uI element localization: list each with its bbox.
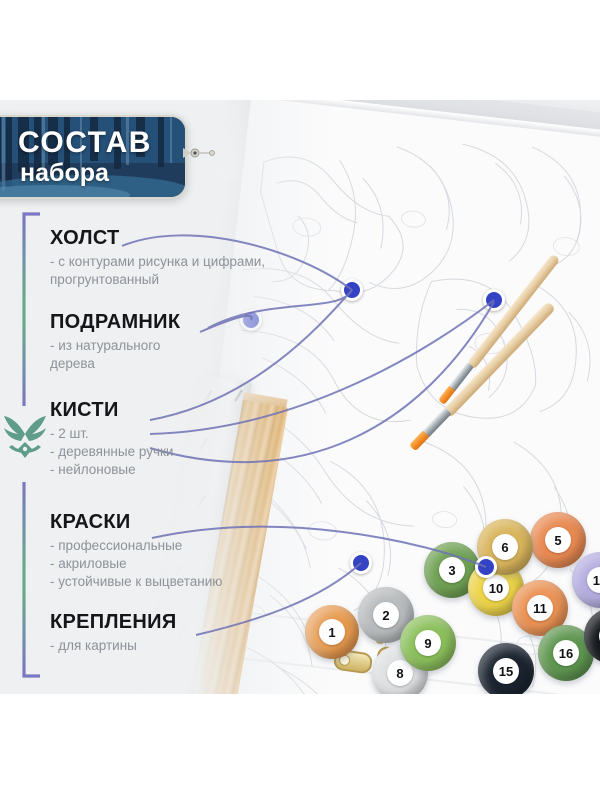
spec-items: - 2 шт. - деревянные ручки - нейлоновые xyxy=(50,425,173,480)
paint-pot-number: 1 xyxy=(319,619,345,645)
spec-item: - деревянные ручки xyxy=(50,443,173,461)
section-banner: СОСТАВ набора xyxy=(0,115,187,199)
spec-block-brushes: КИСТИ - 2 шт. - деревянные ручки - нейло… xyxy=(50,400,173,480)
spec-block-mounts: КРЕПЛЕНИЯ - для картины xyxy=(50,612,177,655)
paint-pot-number: 3 xyxy=(439,557,465,583)
spec-item: - для картины xyxy=(50,637,177,655)
paint-pot: 5 xyxy=(530,512,586,568)
spec-block-canvas: ХОЛСТ - с контурами рисунка и цифрами, п… xyxy=(50,228,265,289)
spec-item: - из натурального xyxy=(50,337,180,355)
spec-heading: КИСТИ xyxy=(50,400,173,421)
marker-brushes xyxy=(483,289,505,311)
paint-pot-number: 11 xyxy=(527,595,553,621)
brand-crest-icon xyxy=(2,412,48,464)
marker-paints xyxy=(475,556,497,578)
paint-pot: 9 xyxy=(400,615,456,671)
banner-title: СОСТАВ xyxy=(18,128,152,158)
spec-item: - нейлоновые xyxy=(50,461,173,479)
paint-pot-number: 10 xyxy=(483,575,509,601)
paint-pot-number: 15 xyxy=(493,658,519,684)
spec-block-paints: КРАСКИ - профессиональные - акриловые - … xyxy=(50,512,222,592)
banner-finial-icon xyxy=(183,145,217,161)
spec-heading: ХОЛСТ xyxy=(50,228,265,249)
paint-pot-number: 5 xyxy=(545,527,571,553)
spec-items: - профессиональные - акриловые - устойчи… xyxy=(50,537,222,592)
spec-item: - 2 шт. xyxy=(50,425,173,443)
paint-pot-number: 12 xyxy=(587,567,600,593)
paint-pot: 1 xyxy=(305,605,359,659)
paint-pot-number: 2 xyxy=(373,602,399,628)
spec-heading: КРАСКИ xyxy=(50,512,222,533)
spec-item: - устойчивые к выцветанию xyxy=(50,573,222,591)
spec-item: дерева xyxy=(50,355,180,373)
spec-block-frame: ПОДРАМНИК - из натурального дерева xyxy=(50,312,180,373)
spec-item: - с контурами рисунка и цифрами, xyxy=(50,253,265,271)
spec-item: - акриловые xyxy=(50,555,222,573)
paint-pot: 15 xyxy=(478,643,534,694)
banner-subtitle: набора xyxy=(20,161,109,186)
marker-mounts xyxy=(350,552,372,574)
spec-items: - из натурального дерева xyxy=(50,337,180,373)
spec-items: - с контурами рисунка и цифрами, прогрун… xyxy=(50,253,265,289)
marker-canvas xyxy=(341,279,363,301)
spec-items: - для картины xyxy=(50,637,177,655)
paint-pot-number: 6 xyxy=(492,534,518,560)
product-infographic-page: 1235891011121516176 xyxy=(0,0,600,800)
spec-heading: ПОДРАМНИК xyxy=(50,312,180,333)
paint-pot-number: 16 xyxy=(553,640,579,666)
spec-item: - профессиональные xyxy=(50,537,222,555)
spec-item: прогрунтованный xyxy=(50,271,265,289)
spec-list-column: СОСТАВ набора xyxy=(0,100,300,694)
spec-heading: КРЕПЛЕНИЯ xyxy=(50,612,177,633)
paint-pot-number: 9 xyxy=(415,630,441,656)
